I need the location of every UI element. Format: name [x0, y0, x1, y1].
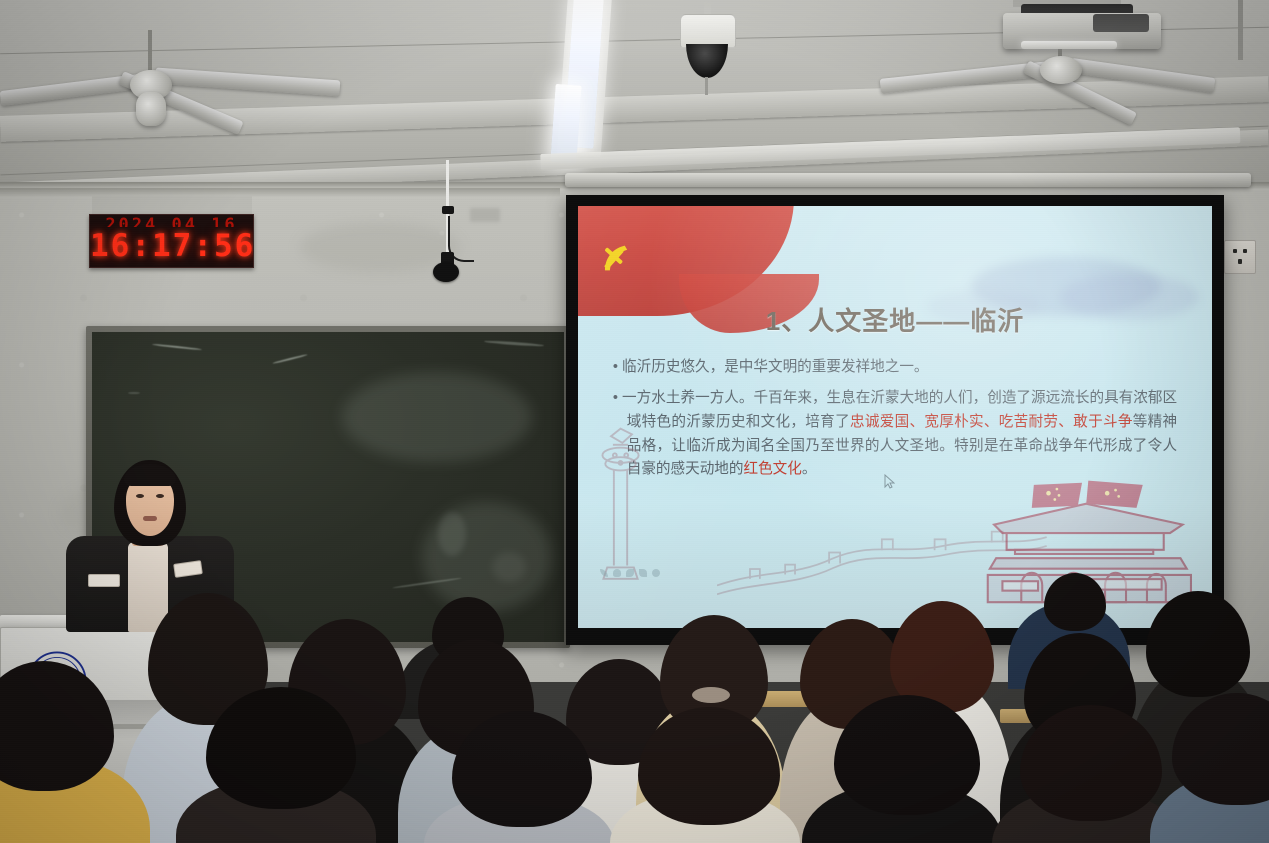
presenter-eye-right [156, 494, 164, 498]
bullet-2: 一方水土养一方人。千百年来，生息在沂蒙大地的人们，创造了源远流长的具有浓郁区域特… [613, 387, 1177, 482]
clock-time: 16:17:56 [90, 228, 253, 264]
presenter-mouth [143, 516, 157, 521]
decor-icon-4 [639, 569, 647, 577]
huabiao-column-art [592, 409, 649, 595]
bullet-1-text: 临沂历史悠久，是中华文明的重要发祥地之一。 [622, 359, 928, 375]
slide-body: 临沂历史悠久，是中华文明的重要发祥地之一。 一方水土养一方人。千百年来，生息在沂… [613, 356, 1177, 490]
student-head [1146, 591, 1250, 697]
wall-outlet [1224, 240, 1256, 274]
bullet-1: 临沂历史悠久，是中华文明的重要发祥地之一。 [613, 356, 1177, 380]
decor-icon-1 [600, 569, 608, 577]
clock-bracket [92, 196, 252, 214]
slide-title: 1、人文圣地——临沂 [578, 301, 1212, 338]
student-head [0, 661, 114, 791]
bullet-2-highlight-2: 红色文化 [743, 461, 801, 477]
decor-icon-5 [652, 569, 660, 577]
student-audience [0, 583, 1269, 843]
decor-icon-2 [613, 569, 621, 577]
student-head [1044, 573, 1106, 631]
decor-icon-3 [626, 569, 634, 577]
dome-security-camera [676, 0, 740, 98]
classroom-scene: 2024 04 16 16:17:56 [0, 0, 1269, 843]
screen-roller-label [576, 180, 578, 187]
slide-decor-icons [600, 569, 660, 577]
screen-roller [565, 173, 1251, 187]
ceiling-fan-left [20, 30, 340, 150]
mouse-cursor-icon [884, 474, 895, 489]
bullet-2-seg-3: 。 [802, 461, 817, 477]
student-hair-tie [692, 687, 730, 703]
ceiling-projector [985, 0, 1170, 62]
hammer-sickle-icon [600, 236, 633, 287]
presentation-slide: 1、人文圣地——临沂 临沂历史悠久，是中华文明的重要发祥地之一。 一方水土养一方… [578, 206, 1212, 628]
presenter-eye-left [136, 494, 144, 498]
wall-patch [470, 208, 500, 222]
bullet-2-highlight-1: 忠诚爱国、宽厚朴实、吃苦耐劳、敢于斗争 [850, 414, 1133, 430]
hanging-microphone [424, 160, 484, 290]
clock-date-row: 2024 04 16 [90, 215, 253, 227]
led-wall-clock: 2024 04 16 16:17:56 [89, 214, 254, 268]
